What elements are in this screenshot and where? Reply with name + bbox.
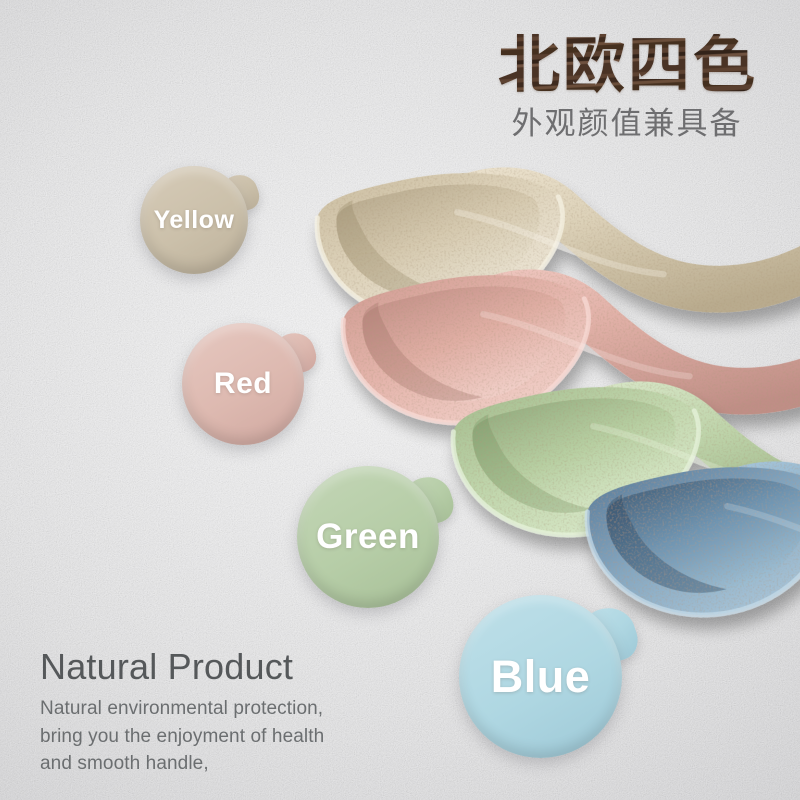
color-swatch-label: Yellow (154, 206, 235, 235)
product-banner: 北欧四色 外观颜值兼具备 Yellow Red Green Blue Natur… (0, 0, 800, 800)
color-swatch-label: Blue (491, 651, 591, 703)
page-title: 北欧四色 (498, 34, 758, 97)
footer-line-1: Natural environmental protection, (40, 695, 400, 723)
footer-line-2: bring you the enjoyment of health (40, 723, 400, 751)
color-swatch-label: Red (214, 367, 272, 401)
color-swatch-label: Green (316, 517, 420, 557)
color-swatch-blue[interactable]: Blue (459, 595, 622, 758)
footer-title: Natural Product (40, 648, 400, 686)
color-swatch-green[interactable]: Green (297, 466, 439, 608)
page-subtitle: 外观颜值兼具备 (498, 107, 756, 141)
footer-line-3: and smooth handle, (40, 750, 400, 778)
footer-copy-block: Natural Product Natural environmental pr… (40, 648, 400, 778)
headline-block: 北欧四色 外观颜值兼具备 (498, 34, 758, 141)
color-swatch-red[interactable]: Red (182, 323, 304, 445)
color-swatch-yellow[interactable]: Yellow (140, 166, 248, 274)
